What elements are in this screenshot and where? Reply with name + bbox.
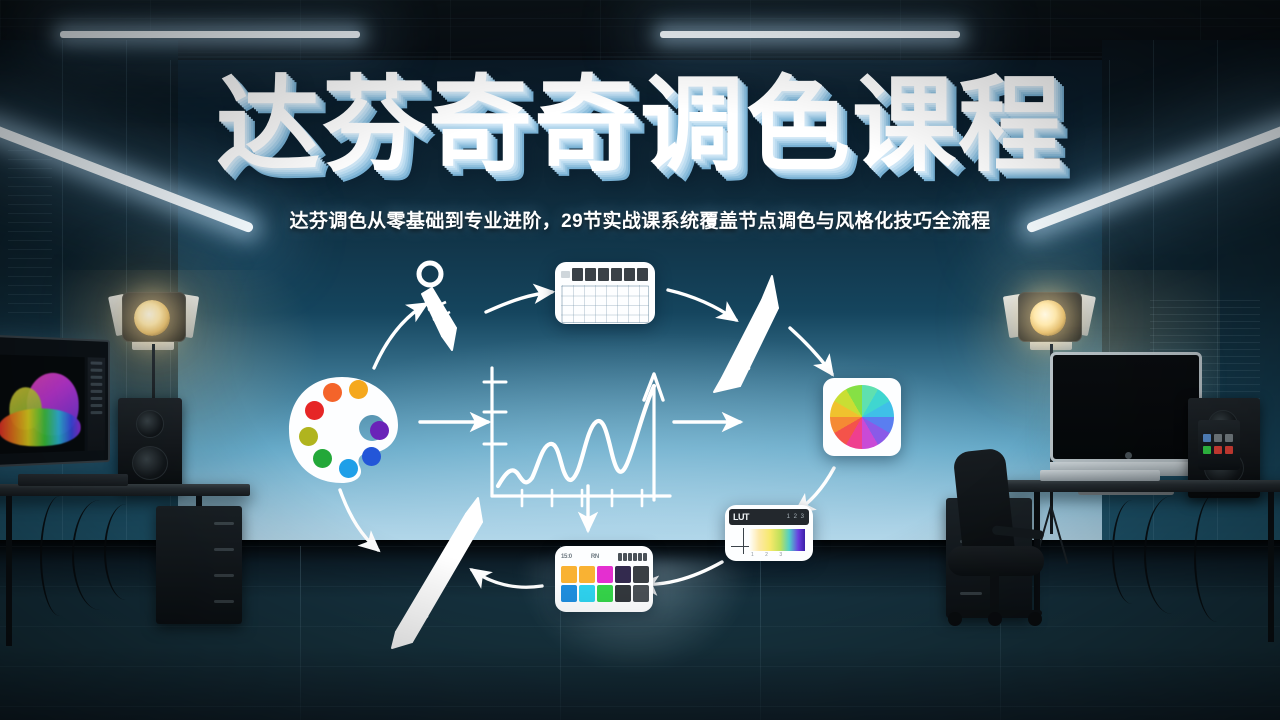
node-editor-card[interactable] — [555, 262, 655, 324]
office-chair[interactable] — [940, 450, 1050, 640]
monitor-logo — [1125, 452, 1132, 459]
studio-poster: 15:0 RN LUT 1 — [0, 0, 1280, 720]
cable — [1112, 500, 1152, 604]
lut-axis-ticks: 1 2 3 — [751, 552, 787, 558]
chair-post — [990, 572, 999, 614]
arrow-pencil-to-nodecard — [486, 292, 552, 312]
node-block — [637, 268, 648, 281]
line-chart — [484, 368, 670, 506]
palette-dot — [362, 447, 381, 466]
speaker-tweeter — [136, 410, 164, 438]
chair-wheel — [1028, 612, 1042, 626]
palette-dot — [349, 380, 368, 399]
swatch[interactable] — [633, 566, 649, 583]
swatch[interactable] — [597, 585, 613, 602]
swatch-header-bars — [618, 553, 647, 561]
keyboard-right[interactable] — [1040, 470, 1160, 481]
cable — [1194, 492, 1240, 622]
hero-subtitle: 达芬调色从零基础到专业进阶，29节实战课系统覆盖节点调色与风格化技巧全流程 — [0, 206, 1280, 233]
imac-monitor[interactable] — [1050, 352, 1202, 462]
page-title: 达芬奇奇调色课程 — [216, 72, 1064, 181]
palette-dot — [339, 459, 358, 478]
node-block — [572, 268, 583, 281]
keyboard-left[interactable] — [18, 474, 128, 486]
control-button-blue[interactable] — [1203, 434, 1211, 442]
scope-spectrum — [0, 408, 81, 447]
lut-title: LUT — [733, 512, 749, 522]
pencil-icon-bottom-left — [392, 498, 482, 648]
cable — [1144, 496, 1200, 614]
swatch[interactable] — [615, 585, 631, 602]
ceiling-tube-light-left — [60, 31, 360, 38]
desk-cabinet-left[interactable] — [156, 506, 242, 624]
swatch-header-mid: RN — [591, 554, 599, 560]
palette-icon[interactable] — [286, 375, 404, 485]
node-card-header — [561, 268, 649, 281]
desk-leg — [1268, 492, 1274, 642]
swatch-grid — [561, 566, 647, 602]
swatch[interactable] — [579, 566, 595, 583]
swatch[interactable] — [561, 566, 577, 583]
control-button-green[interactable] — [1203, 446, 1211, 454]
palette-dot — [313, 449, 332, 468]
arrow-palette-to-pencil-bottom — [340, 490, 378, 550]
lamp-lens — [134, 300, 170, 336]
swatch[interactable] — [561, 585, 577, 602]
cabinet-handle — [214, 522, 234, 525]
cabinet-handle — [214, 600, 234, 603]
speaker-woofer — [132, 446, 168, 480]
swatch-header-left: 15:0 — [561, 554, 572, 560]
swatch-grid-card[interactable]: 15:0 RN — [555, 546, 653, 612]
workflow-diagram: 15:0 RN LUT 1 — [270, 250, 930, 650]
swatch[interactable] — [579, 585, 595, 602]
hero-title-wrap: 达芬奇奇调色课程 — [0, 72, 1280, 181]
swatch-card-header: 15:0 RN — [561, 551, 647, 562]
chair-wheel — [948, 612, 962, 626]
cabinet-handle — [214, 574, 234, 577]
lut-numbers: 1 2 3 — [787, 514, 805, 520]
ceiling-beam — [0, 18, 1280, 19]
chair-back — [952, 448, 1015, 561]
ceiling-tube-light-right — [660, 31, 960, 38]
swatch[interactable] — [597, 566, 613, 583]
chart-series-line — [498, 386, 654, 486]
node-card-tag — [561, 271, 570, 278]
swatch[interactable] — [615, 566, 631, 583]
control-button-gray[interactable] — [1214, 434, 1222, 442]
node-block — [611, 268, 622, 281]
control-button-gray[interactable] — [1225, 434, 1233, 442]
lut-gradient-bars — [749, 529, 805, 551]
arrow-palette-to-pencil — [374, 304, 426, 368]
arrow-nodecard-to-pencil — [668, 290, 736, 320]
palette-dot — [299, 427, 318, 446]
arrow-swatch-to-pencil — [472, 570, 542, 587]
node-block — [624, 268, 635, 281]
swatch[interactable] — [633, 585, 649, 602]
lut-y-axis — [743, 528, 744, 554]
color-wheel-card[interactable] — [823, 378, 901, 456]
lut-curve-area: 1 2 3 — [729, 528, 809, 557]
palette-dot — [305, 401, 324, 420]
control-button-red[interactable] — [1214, 446, 1222, 454]
node-card-grid — [561, 285, 649, 323]
lamp-lens — [1030, 300, 1066, 336]
lut-card-header: LUT 1 2 3 — [729, 509, 809, 525]
palette-dot — [370, 421, 389, 440]
scope-display — [0, 355, 85, 454]
control-surface-panel[interactable] — [1198, 420, 1240, 470]
chair-wheel — [988, 612, 1002, 626]
cable — [104, 504, 148, 600]
node-block — [598, 268, 609, 281]
ceiling-beam — [0, 56, 1280, 58]
pencil-icon-top-right — [714, 276, 778, 392]
grading-scope-monitor[interactable] — [0, 335, 110, 468]
desk-leg — [6, 496, 12, 646]
node-block — [585, 268, 596, 281]
scope-side-panel — [88, 357, 106, 450]
color-wheel-icon — [830, 385, 894, 449]
control-button-red[interactable] — [1225, 446, 1233, 454]
lamp-head — [122, 292, 186, 342]
palette-dot — [323, 383, 342, 402]
lamp-head — [1018, 292, 1082, 342]
lut-card[interactable]: LUT 1 2 3 1 2 3 — [725, 505, 813, 561]
arrow-pencil-to-wheel — [790, 328, 832, 374]
cabinet-handle — [214, 548, 234, 551]
